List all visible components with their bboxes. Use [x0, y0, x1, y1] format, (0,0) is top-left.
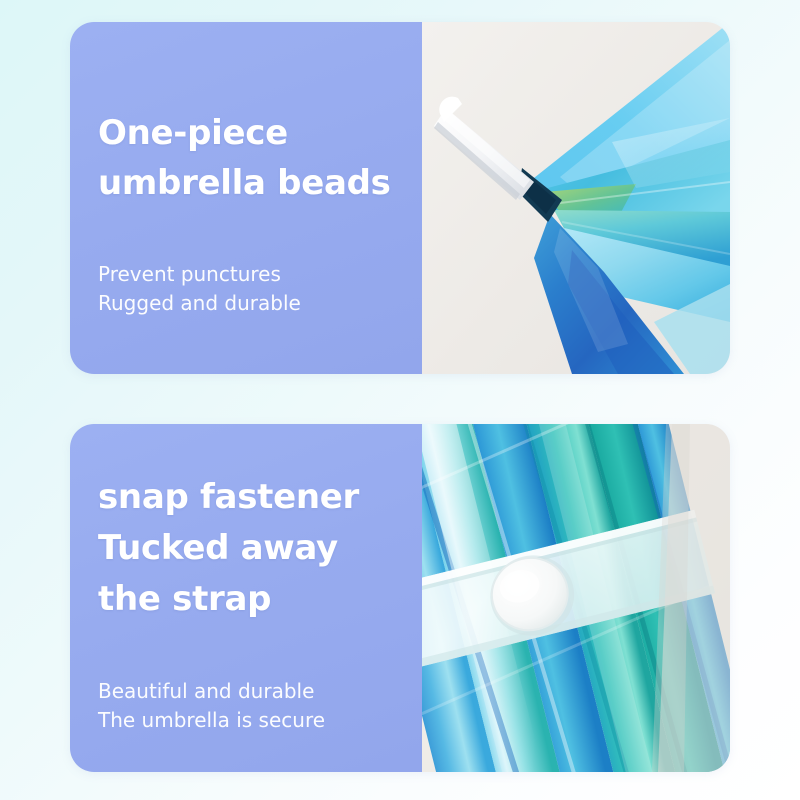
umbrella-tip-illustration: [422, 22, 730, 374]
feature-headline: snap fastener Tucked away the strap: [98, 472, 404, 625]
feature-card-umbrella-beads: One-piece umbrella beads Prevent punctur…: [70, 22, 730, 374]
snap-fastener-illustration: [422, 424, 730, 772]
umbrella-tip-photo: [422, 22, 730, 374]
umbrella-strap-photo: [422, 424, 730, 772]
feature-card-snap-fastener: snap fastener Tucked away the strap Beau…: [70, 424, 730, 772]
feature-text-pane: One-piece umbrella beads Prevent punctur…: [70, 22, 422, 374]
product-feature-board: One-piece umbrella beads Prevent punctur…: [0, 0, 800, 800]
feature-subline: Beautiful and durable The umbrella is se…: [98, 677, 404, 735]
feature-headline: One-piece umbrella beads: [98, 108, 404, 208]
feature-text-pane: snap fastener Tucked away the strap Beau…: [70, 424, 422, 772]
feature-subline: Prevent punctures Rugged and durable: [98, 260, 404, 318]
